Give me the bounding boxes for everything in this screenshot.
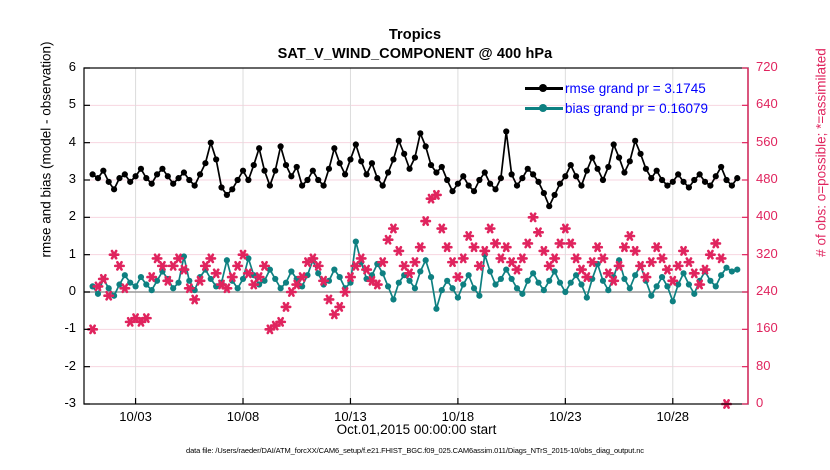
data-point	[202, 160, 208, 166]
data-point	[627, 158, 633, 164]
obs-marker	[701, 266, 709, 273]
obs-marker	[497, 255, 505, 262]
obs-marker	[233, 262, 241, 269]
obs-marker	[405, 270, 413, 277]
obs-marker	[545, 262, 553, 269]
data-point	[122, 171, 128, 177]
series-obs	[88, 191, 730, 407]
y-tick-label-left: 0	[36, 283, 76, 298]
x-tick-label: 10/23	[530, 409, 600, 424]
legend-label-rmse: rmse grand pr = 3.1745	[565, 81, 706, 96]
data-point	[143, 281, 149, 287]
data-point	[401, 151, 407, 157]
obs-marker	[626, 232, 634, 239]
data-point	[466, 272, 472, 278]
data-point	[100, 168, 106, 174]
obs-marker	[373, 281, 381, 288]
y-tick-label-right: 480	[756, 171, 804, 186]
x-tick-label: 10/18	[423, 409, 493, 424]
data-point	[573, 173, 579, 179]
data-point	[245, 177, 251, 183]
data-point	[149, 181, 155, 187]
data-point	[578, 281, 584, 287]
data-point	[546, 203, 552, 209]
data-point	[396, 280, 402, 286]
obs-marker	[438, 225, 446, 232]
obs-marker	[706, 251, 714, 258]
obs-marker	[201, 262, 209, 269]
obs-marker	[169, 262, 177, 269]
x-tick-label: 10/28	[638, 409, 708, 424]
data-point	[116, 175, 122, 181]
data-point	[272, 276, 278, 282]
data-point	[197, 171, 203, 177]
x-tick-label: 10/13	[315, 409, 385, 424]
data-point	[455, 181, 461, 187]
obs-marker	[411, 258, 419, 265]
data-point	[471, 188, 477, 194]
data-point	[503, 267, 509, 273]
obs-marker	[459, 255, 467, 262]
data-point	[256, 145, 262, 151]
obs-marker	[491, 240, 499, 247]
obs-marker	[577, 266, 585, 273]
data-point	[342, 171, 348, 177]
obs-marker	[298, 273, 306, 280]
data-point	[632, 138, 638, 144]
data-point	[691, 291, 697, 297]
obs-marker	[309, 255, 317, 262]
obs-marker	[357, 255, 365, 262]
data-point	[218, 184, 224, 190]
data-point	[723, 265, 729, 271]
data-point	[466, 183, 472, 189]
data-point	[487, 181, 493, 187]
data-point	[605, 164, 611, 170]
data-point	[525, 278, 531, 284]
x-axis-label: Oct.01,2015 00:00:00 start	[84, 422, 749, 437]
data-point	[557, 280, 563, 286]
obs-marker	[679, 247, 687, 254]
obs-marker	[690, 270, 698, 277]
data-point	[600, 177, 606, 183]
data-point	[503, 128, 509, 134]
data-point	[428, 162, 434, 168]
data-point	[122, 272, 128, 278]
data-point	[363, 171, 369, 177]
y-tick-label-left: 4	[36, 134, 76, 149]
data-point	[95, 175, 101, 181]
y-tick-label-right: 320	[756, 246, 804, 261]
data-point	[406, 278, 412, 284]
obs-marker	[244, 270, 252, 277]
obs-marker	[416, 244, 424, 251]
obs-marker	[669, 277, 677, 284]
obs-marker	[293, 281, 301, 288]
plot-area	[0, 0, 830, 470]
data-point	[691, 177, 697, 183]
y-tick-label-left: 1	[36, 246, 76, 261]
y-tick-label-right: 240	[756, 283, 804, 298]
data-point	[686, 281, 692, 287]
data-point	[439, 164, 445, 170]
data-point	[444, 177, 450, 183]
data-point	[729, 268, 735, 274]
series-rmse	[89, 128, 740, 209]
data-point	[294, 164, 300, 170]
series-bias	[89, 239, 740, 312]
obs-marker	[513, 266, 521, 273]
obs-marker	[615, 262, 623, 269]
data-point	[331, 145, 337, 151]
data-point	[670, 298, 676, 304]
obs-marker	[443, 244, 451, 251]
data-point	[320, 183, 326, 189]
data-point	[541, 190, 547, 196]
obs-marker	[534, 229, 542, 236]
data-point	[423, 143, 429, 149]
obs-marker	[674, 262, 682, 269]
data-point	[664, 183, 670, 189]
data-point	[702, 179, 708, 185]
obs-marker	[475, 262, 483, 269]
data-point	[331, 267, 337, 273]
figure-canvas: Tropics SAT_V_WIND_COMPONENT @ 400 hPa r…	[0, 0, 830, 470]
y-tick-label-left: 2	[36, 208, 76, 223]
data-point	[541, 287, 547, 293]
data-point	[229, 186, 235, 192]
data-point	[132, 283, 138, 289]
data-point	[460, 173, 466, 179]
data-point	[175, 280, 181, 286]
data-point	[449, 188, 455, 194]
data-point	[380, 183, 386, 189]
obs-marker	[647, 258, 655, 265]
obs-marker	[695, 281, 703, 288]
obs-marker	[282, 303, 290, 310]
obs-marker	[717, 255, 725, 262]
data-point	[675, 171, 681, 177]
obs-marker	[94, 283, 102, 290]
obs-marker	[464, 232, 472, 239]
data-point	[594, 166, 600, 172]
data-point	[170, 285, 176, 291]
obs-marker	[642, 273, 650, 280]
data-point	[492, 281, 498, 287]
obs-marker	[663, 266, 671, 273]
data-point	[734, 267, 740, 273]
data-point	[509, 171, 515, 177]
obs-marker	[524, 240, 532, 247]
data-point	[267, 183, 273, 189]
obs-marker	[336, 303, 344, 310]
data-point	[654, 168, 660, 174]
obs-marker	[319, 277, 327, 284]
data-point	[589, 155, 595, 161]
obs-marker	[185, 285, 193, 292]
obs-marker	[142, 314, 150, 321]
data-point	[385, 283, 391, 289]
y-tick-label-left: 3	[36, 171, 76, 186]
obs-marker	[454, 273, 462, 280]
y-tick-label-left: -2	[36, 358, 76, 373]
data-point	[224, 192, 230, 198]
data-point	[369, 160, 375, 166]
data-point	[718, 272, 724, 278]
obs-marker	[395, 247, 403, 254]
data-point	[159, 166, 165, 172]
obs-marker	[121, 285, 129, 292]
data-point	[476, 293, 482, 299]
data-point	[600, 278, 606, 284]
data-point	[648, 293, 654, 299]
data-point	[498, 276, 504, 282]
data-point	[412, 285, 418, 291]
data-point	[670, 179, 676, 185]
data-point	[460, 281, 466, 287]
data-point	[278, 143, 284, 149]
obs-marker	[502, 244, 510, 251]
data-point	[621, 169, 627, 175]
data-point	[170, 181, 176, 187]
data-point	[654, 283, 660, 289]
obs-marker	[486, 225, 494, 232]
data-point	[89, 171, 95, 177]
data-point	[326, 166, 332, 172]
data-point	[659, 177, 665, 183]
obs-marker	[599, 255, 607, 262]
y-tick-label-left: -1	[36, 320, 76, 335]
obs-marker	[583, 273, 591, 280]
x-tick-label: 10/03	[101, 409, 171, 424]
data-point	[455, 295, 461, 301]
data-point	[535, 280, 541, 286]
data-point	[718, 164, 724, 170]
obs-marker	[207, 255, 215, 262]
data-point	[315, 270, 321, 276]
data-point	[482, 169, 488, 175]
data-point	[433, 169, 439, 175]
data-point	[530, 171, 536, 177]
data-point	[380, 270, 386, 276]
y-tick-label-right: 640	[756, 96, 804, 111]
data-point	[723, 177, 729, 183]
data-point	[605, 287, 611, 293]
obs-marker	[255, 273, 263, 280]
data-point	[713, 173, 719, 179]
data-point	[261, 168, 267, 174]
data-point	[149, 287, 155, 293]
data-point	[557, 181, 563, 187]
obs-marker	[314, 262, 322, 269]
obs-marker	[260, 262, 268, 269]
data-point	[514, 183, 520, 189]
data-point	[235, 177, 241, 183]
data-point	[272, 168, 278, 174]
obs-marker	[239, 251, 247, 258]
data-point	[138, 166, 144, 172]
data-point	[498, 175, 504, 181]
obs-marker	[518, 255, 526, 262]
obs-marker	[250, 281, 258, 288]
x-tick-label: 10/08	[208, 409, 278, 424]
data-point	[449, 285, 455, 291]
legend-marker-rmse	[523, 79, 565, 97]
obs-marker	[346, 273, 354, 280]
data-point	[423, 257, 429, 263]
data-point	[530, 270, 536, 276]
obs-marker	[572, 255, 580, 262]
data-point	[132, 173, 138, 179]
data-point	[283, 280, 289, 286]
data-point	[353, 141, 359, 147]
y-axis-left-label: rmse and bias (model - observation)	[39, 0, 54, 320]
obs-marker	[164, 277, 172, 284]
obs-marker	[604, 270, 612, 277]
obs-marker	[550, 255, 558, 262]
data-point	[632, 272, 638, 278]
data-point	[680, 179, 686, 185]
data-point	[127, 179, 133, 185]
data-point	[729, 183, 735, 189]
obs-marker	[147, 273, 155, 280]
data-point	[627, 285, 633, 291]
obs-marker	[341, 288, 349, 295]
obs-marker	[540, 247, 548, 254]
data-point	[95, 291, 101, 297]
data-point	[278, 285, 284, 291]
obs-marker	[529, 214, 537, 221]
data-point	[519, 175, 525, 181]
y-tick-label-right: 400	[756, 208, 804, 223]
obs-marker	[378, 258, 386, 265]
obs-marker	[470, 244, 478, 251]
obs-marker	[658, 255, 666, 262]
obs-marker	[448, 258, 456, 265]
data-point	[509, 276, 515, 282]
data-point	[584, 295, 590, 301]
data-point	[562, 289, 568, 295]
data-point	[686, 184, 692, 190]
data-point	[734, 175, 740, 181]
data-point	[643, 166, 649, 172]
obs-marker	[561, 225, 569, 232]
y-tick-label-right: 720	[756, 59, 804, 74]
obs-marker	[384, 236, 392, 243]
data-point	[439, 287, 445, 293]
data-point	[337, 274, 343, 280]
obs-marker	[174, 255, 182, 262]
obs-marker	[212, 270, 220, 277]
data-point	[562, 173, 568, 179]
obs-marker	[276, 318, 284, 325]
data-point	[315, 177, 321, 183]
data-point	[347, 156, 353, 162]
data-point	[208, 140, 214, 146]
obs-marker	[400, 262, 408, 269]
obs-marker	[712, 240, 720, 247]
y-tick-label-right: 560	[756, 134, 804, 149]
obs-marker	[507, 258, 515, 265]
data-point	[406, 166, 412, 172]
legend-marker-bias	[523, 99, 565, 117]
obs-marker	[421, 217, 429, 224]
obs-marker	[153, 255, 161, 262]
obs-marker	[196, 277, 204, 284]
data-point	[514, 285, 520, 291]
data-point	[138, 274, 144, 280]
data-point	[444, 278, 450, 284]
data-point	[680, 270, 686, 276]
data-point	[358, 158, 364, 164]
legend-item-bias: bias grand pr = 0.16079	[523, 98, 745, 118]
data-point	[492, 186, 498, 192]
obs-marker	[190, 296, 198, 303]
obs-marker	[330, 311, 338, 318]
data-point	[299, 183, 305, 189]
obs-marker	[593, 244, 601, 251]
obs-marker	[180, 266, 188, 273]
chart-legend: rmse grand pr = 3.1745 bias grand pr = 0…	[523, 78, 745, 118]
data-point	[637, 151, 643, 157]
data-point	[611, 141, 617, 147]
obs-marker	[287, 288, 295, 295]
data-point	[283, 162, 289, 168]
obs-marker	[556, 240, 564, 247]
data-point	[224, 257, 230, 263]
data-point	[417, 268, 423, 274]
data-point	[546, 278, 552, 284]
data-point	[304, 177, 310, 183]
data-point	[707, 278, 713, 284]
data-point	[143, 175, 149, 181]
y-tick-label-left: -3	[36, 395, 76, 410]
legend-item-rmse: rmse grand pr = 3.1745	[523, 78, 745, 98]
obs-marker	[105, 292, 113, 299]
obs-marker	[362, 266, 370, 273]
data-point	[428, 274, 434, 280]
data-point	[433, 306, 439, 312]
data-point	[213, 156, 219, 162]
data-point	[584, 168, 590, 174]
data-point	[648, 175, 654, 181]
obs-marker	[158, 262, 166, 269]
obs-marker	[352, 262, 360, 269]
obs-marker	[115, 262, 123, 269]
obs-marker	[588, 258, 596, 265]
data-point	[525, 166, 531, 172]
data-point	[186, 278, 192, 284]
obs-marker	[223, 285, 231, 292]
obs-marker	[325, 296, 333, 303]
data-point	[154, 171, 160, 177]
data-point	[353, 239, 359, 245]
y-tick-label-right: 80	[756, 358, 804, 373]
data-point	[310, 168, 316, 174]
data-point	[374, 175, 380, 181]
data-point	[713, 283, 719, 289]
data-point	[471, 285, 477, 291]
data-point	[487, 268, 493, 274]
data-point	[251, 162, 257, 168]
obs-marker	[620, 244, 628, 251]
obs-marker	[481, 247, 489, 254]
y-axis-right-label: # of obs: o=possible; *=assimilated	[814, 0, 829, 323]
data-point	[621, 276, 627, 282]
data-point	[412, 155, 418, 161]
obs-marker	[432, 191, 440, 198]
data-point	[106, 179, 112, 185]
